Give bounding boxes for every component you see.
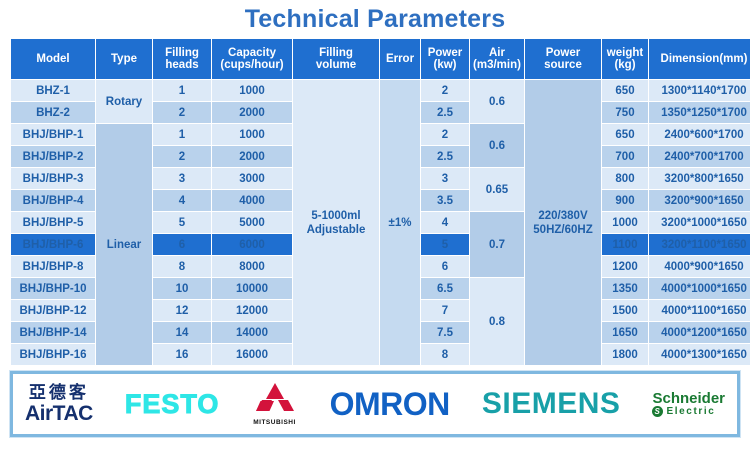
cell-capacity: 16000 (212, 344, 292, 365)
cell-dimension: 4000*1200*1650 (649, 322, 750, 343)
column-header-2: Fillingheads (153, 39, 211, 79)
column-header-8: Powersource (525, 39, 601, 79)
cell-dimension: 1350*1250*1700 (649, 102, 750, 123)
mitsubishi-wordmark: MITSUBISHI (253, 419, 296, 426)
cell-filling-heads: 8 (153, 256, 211, 277)
cell-power: 7.5 (421, 322, 469, 343)
cell-model: BHJ/BHP-4 (11, 190, 95, 211)
page-title: Technical Parameters (0, 0, 750, 38)
cell-model: BHJ/BHP-3 (11, 168, 95, 189)
brand-logo-omron: OMRON (330, 386, 450, 423)
column-header-4: Fillingvolume (293, 39, 379, 79)
cell-air: 0.65 (470, 168, 524, 211)
spec-table-container: ModelTypeFillingheadsCapacity(cups/hour)… (10, 38, 740, 366)
schneider-subtitle: S Electric (652, 406, 715, 417)
cell-model: BHJ/BHP-5 (11, 212, 95, 233)
cell-filling-volume: 5-1000mlAdjustable (293, 80, 379, 365)
column-header-7: Air(m3/min) (470, 39, 524, 79)
technical-parameters-page: Technical Parameters ModelTypeFillinghea… (0, 0, 750, 470)
brand-logo-siemens: SIEMENS (482, 387, 621, 421)
spec-table: ModelTypeFillingheadsCapacity(cups/hour)… (10, 38, 750, 366)
cell-filling-heads: 1 (153, 124, 211, 145)
cell-dimension: 2400*700*1700 (649, 146, 750, 167)
cell-power: 2 (421, 124, 469, 145)
cell-power: 7 (421, 300, 469, 321)
cell-capacity: 10000 (212, 278, 292, 299)
cell-filling-heads: 5 (153, 212, 211, 233)
brand-logo-airtac: 亞德客 AirTAC (25, 385, 93, 424)
cell-model: BHJ/BHP-10 (11, 278, 95, 299)
table-body: BHZ-1Rotary110005-1000mlAdjustable±1%20.… (11, 80, 750, 365)
cell-capacity: 5000 (212, 212, 292, 233)
cell-weight: 700 (602, 146, 648, 167)
cell-type-rotary: Rotary (96, 80, 152, 123)
cell-power: 6.5 (421, 278, 469, 299)
cell-filling-heads: 12 (153, 300, 211, 321)
cell-weight: 900 (602, 190, 648, 211)
cell-model: BHZ-2 (11, 102, 95, 123)
cell-weight: 1200 (602, 256, 648, 277)
table-row[interactable]: BHZ-1Rotary110005-1000mlAdjustable±1%20.… (11, 80, 750, 101)
cell-model: BHJ/BHP-2 (11, 146, 95, 167)
cell-model: BHJ/BHP-16 (11, 344, 95, 365)
cell-power: 2.5 (421, 102, 469, 123)
airtac-chinese-text: 亞德客 (29, 385, 89, 402)
cell-dimension: 3200*1000*1650 (649, 212, 750, 233)
cell-dimension: 4000*900*1650 (649, 256, 750, 277)
cell-dimension: 3200*1100*1650 (649, 234, 750, 255)
cell-power: 3.5 (421, 190, 469, 211)
schneider-wordmark: Schneider (652, 391, 725, 407)
cell-filling-heads: 3 (153, 168, 211, 189)
cell-weight: 1500 (602, 300, 648, 321)
cell-capacity: 1000 (212, 124, 292, 145)
cell-weight: 650 (602, 80, 648, 101)
cell-model: BHJ/BHP-14 (11, 322, 95, 343)
cell-weight: 1350 (602, 278, 648, 299)
cell-power: 6 (421, 256, 469, 277)
cell-filling-heads: 2 (153, 146, 211, 167)
mitsubishi-triangles-icon (252, 382, 298, 417)
column-header-10: Dimension(mm) (649, 39, 750, 79)
cell-filling-heads: 2 (153, 102, 211, 123)
cell-air: 0.6 (470, 124, 524, 167)
cell-capacity: 8000 (212, 256, 292, 277)
cell-model: BHJ/BHP-8 (11, 256, 95, 277)
brand-logo-mitsubishi: MITSUBISHI (252, 382, 298, 426)
cell-type-linear: Linear (96, 124, 152, 365)
brand-logo-schneider: Schneider S Electric (652, 391, 725, 418)
cell-dimension: 4000*1100*1650 (649, 300, 750, 321)
cell-weight: 750 (602, 102, 648, 123)
column-header-5: Error (380, 39, 420, 79)
cell-air: 0.7 (470, 212, 524, 277)
cell-dimension: 2400*600*1700 (649, 124, 750, 145)
column-header-9: weight(kg) (602, 39, 648, 79)
cell-model: BHJ/BHP-6 (11, 234, 95, 255)
cell-filling-heads: 4 (153, 190, 211, 211)
cell-air: 0.6 (470, 80, 524, 123)
cell-capacity: 2000 (212, 102, 292, 123)
cell-power: 8 (421, 344, 469, 365)
brand-logo-bar: 亞德客 AirTAC FESTO MITSUBISHI OMRON SIEMEN… (10, 371, 740, 437)
cell-power: 2 (421, 80, 469, 101)
column-header-1: Type (96, 39, 152, 79)
cell-capacity: 6000 (212, 234, 292, 255)
cell-capacity: 1000 (212, 80, 292, 101)
column-header-0: Model (11, 39, 95, 79)
cell-power: 4 (421, 212, 469, 233)
cell-dimension: 4000*1000*1650 (649, 278, 750, 299)
airtac-latin-text: AirTAC (25, 403, 93, 424)
cell-dimension: 1300*1140*1700 (649, 80, 750, 101)
column-header-6: Power(kw) (421, 39, 469, 79)
cell-weight: 800 (602, 168, 648, 189)
cell-weight: 650 (602, 124, 648, 145)
cell-dimension: 3200*900*1650 (649, 190, 750, 211)
cell-model: BHJ/BHP-1 (11, 124, 95, 145)
column-header-3: Capacity(cups/hour) (212, 39, 292, 79)
cell-weight: 1650 (602, 322, 648, 343)
schneider-electric-text: Electric (666, 407, 715, 418)
cell-filling-heads: 16 (153, 344, 211, 365)
cell-capacity: 2000 (212, 146, 292, 167)
cell-power-source: 220/380V50HZ/60HZ (525, 80, 601, 365)
cell-model: BHZ-1 (11, 80, 95, 101)
cell-model: BHJ/BHP-12 (11, 300, 95, 321)
cell-dimension: 3200*800*1650 (649, 168, 750, 189)
cell-weight: 1800 (602, 344, 648, 365)
cell-power: 5 (421, 234, 469, 255)
cell-filling-heads: 1 (153, 80, 211, 101)
cell-power: 3 (421, 168, 469, 189)
cell-capacity: 4000 (212, 190, 292, 211)
brand-logo-festo: FESTO (125, 389, 220, 420)
cell-weight: 1100 (602, 234, 648, 255)
cell-air: 0.8 (470, 278, 524, 365)
cell-filling-heads: 10 (153, 278, 211, 299)
cell-capacity: 14000 (212, 322, 292, 343)
cell-capacity: 3000 (212, 168, 292, 189)
cell-filling-heads: 6 (153, 234, 211, 255)
schneider-mark-icon: S (652, 406, 663, 417)
cell-capacity: 12000 (212, 300, 292, 321)
cell-weight: 1000 (602, 212, 648, 233)
cell-power: 2.5 (421, 146, 469, 167)
cell-dimension: 4000*1300*1650 (649, 344, 750, 365)
cell-filling-heads: 14 (153, 322, 211, 343)
cell-error: ±1% (380, 80, 420, 365)
table-header-row: ModelTypeFillingheadsCapacity(cups/hour)… (11, 39, 750, 79)
